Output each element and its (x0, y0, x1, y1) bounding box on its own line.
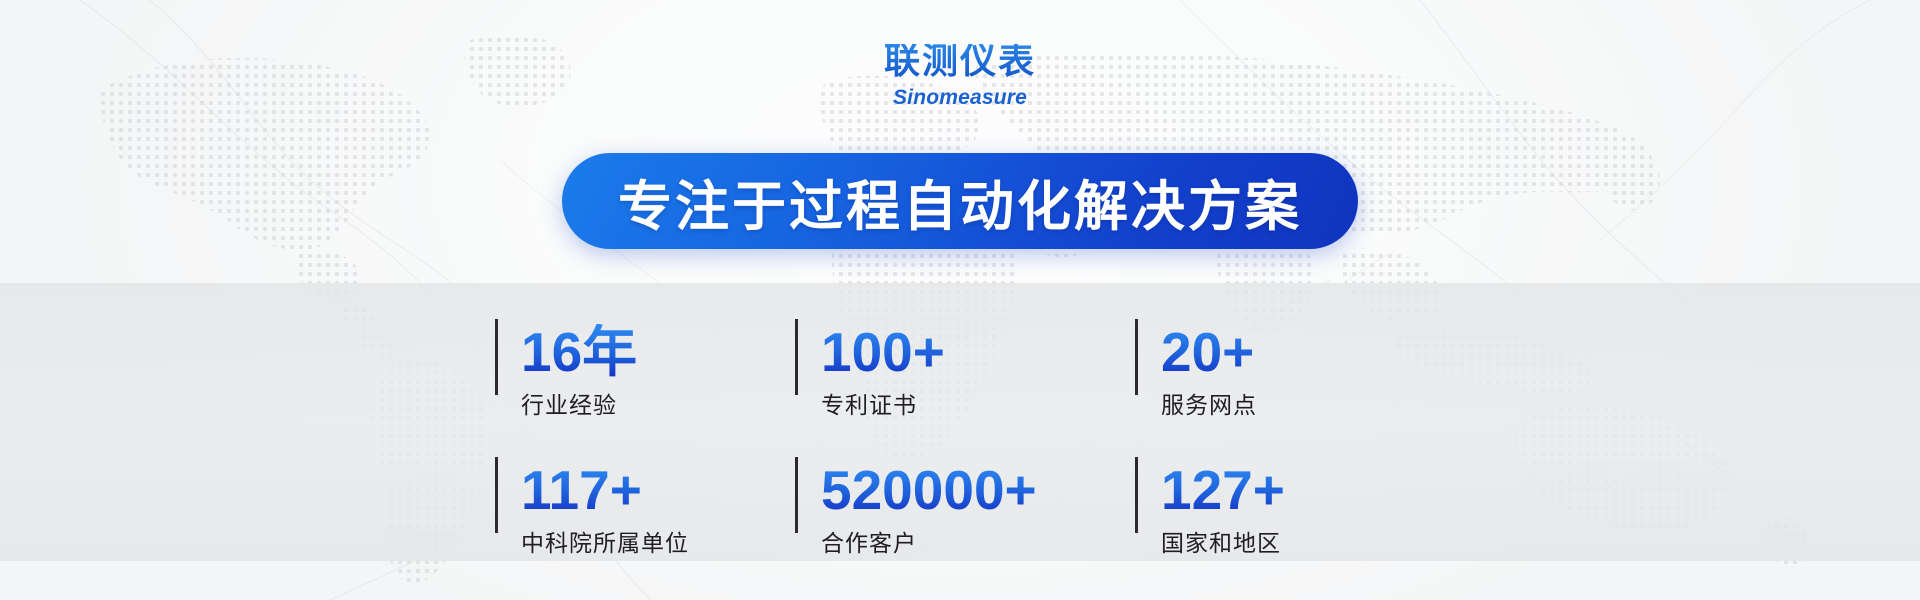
stat-item-patents: 100+ 专利证书 (795, 303, 1135, 441)
stat-item-experience: 16年 行业经验 (495, 303, 795, 441)
stat-label: 行业经验 (521, 386, 795, 420)
stat-value: 16年 (521, 324, 795, 380)
headline-text: 专注于过程自动化解决方案 (618, 162, 1302, 241)
stat-rule-icon (795, 319, 798, 395)
stat-label: 专利证书 (821, 386, 1135, 420)
headline-pill-wrapper: 专注于过程自动化解决方案 (0, 153, 1920, 249)
stat-value: 100+ (821, 324, 1135, 380)
stat-label: 国家和地区 (1161, 524, 1425, 558)
stat-rule-icon (1135, 319, 1138, 395)
brand-logo: 联测仪表 Sinomeasure (0, 44, 1920, 108)
stat-label: 中科院所属单位 (521, 524, 795, 558)
stat-rule-icon (795, 457, 798, 533)
stat-value: 127+ (1161, 462, 1425, 518)
stat-rule-icon (1135, 457, 1138, 533)
stat-item-customers: 520000+ 合作客户 (795, 441, 1135, 579)
promo-banner: 联测仪表 Sinomeasure 专注于过程自动化解决方案 16年 行业经验 1… (0, 0, 1920, 600)
stat-label: 合作客户 (821, 524, 1135, 558)
stat-value: 520000+ (821, 462, 1135, 518)
stat-value: 117+ (521, 462, 795, 518)
brand-logo-en: Sinomeasure (0, 87, 1920, 108)
stat-rule-icon (495, 319, 498, 395)
brand-logo-cn: 联测仪表 (0, 44, 1920, 80)
stat-rule-icon (495, 457, 498, 533)
stat-label: 服务网点 (1161, 386, 1425, 420)
headline-pill: 专注于过程自动化解决方案 (562, 153, 1358, 249)
stat-value: 20+ (1161, 324, 1425, 380)
stat-item-service-points: 20+ 服务网点 (1135, 303, 1425, 441)
stat-item-cas-units: 117+ 中科院所属单位 (495, 441, 795, 579)
stat-item-countries: 127+ 国家和地区 (1135, 441, 1425, 579)
stats-grid: 16年 行业经验 100+ 专利证书 20+ 服务网点 117+ 中科院所属单位 (495, 303, 1425, 579)
